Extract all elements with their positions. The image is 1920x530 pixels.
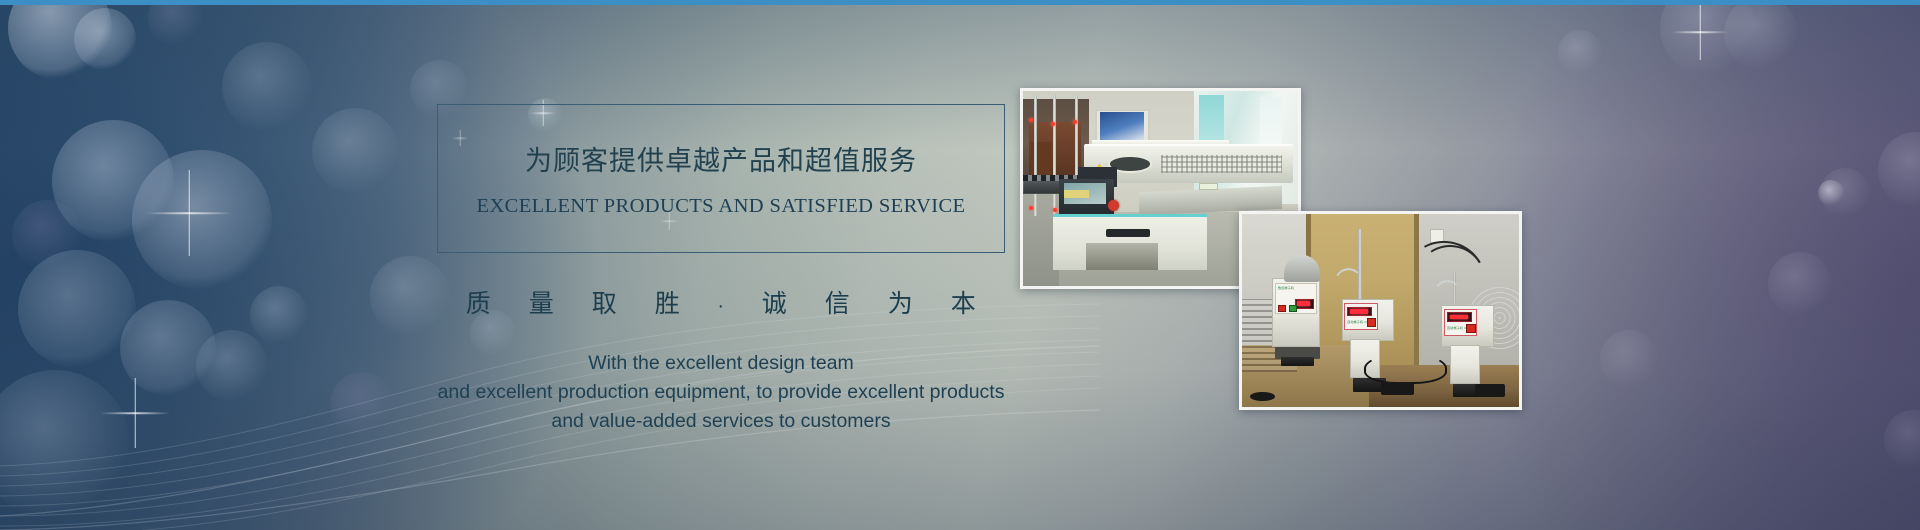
banner-text-column: 为顾客提供卓越产品和超值服务 EXCELLENT PRODUCTS AND SA… bbox=[437, 104, 1005, 436]
slogan-char-5: 诚 bbox=[743, 284, 806, 320]
slogan-char-8: 本 bbox=[932, 284, 995, 320]
slogan-line: 质量取胜·诚信为本 bbox=[437, 284, 1005, 320]
slogan-separator: · bbox=[699, 295, 743, 318]
headline-chinese: 为顾客提供卓越产品和超值服务 bbox=[525, 145, 917, 177]
description-paragraph: With the excellent design team and excel… bbox=[371, 349, 1071, 436]
headline-english: EXCELLENT PRODUCTS AND SATISFIED SERVICE bbox=[477, 195, 966, 218]
slogan-char-7: 为 bbox=[869, 284, 932, 320]
description-line-2: and excellent production equipment, to p… bbox=[371, 378, 1071, 407]
slogan-char-2: 量 bbox=[510, 284, 573, 320]
top-accent-bar bbox=[0, 0, 1920, 5]
headline-box: 为顾客提供卓越产品和超值服务 EXCELLENT PRODUCTS AND SA… bbox=[437, 104, 1005, 253]
slogan-char-6: 信 bbox=[806, 284, 869, 320]
description-line-1: With the excellent design team bbox=[371, 349, 1071, 378]
promo-banner: 为顾客提供卓越产品和超值服务 EXCELLENT PRODUCTS AND SA… bbox=[0, 0, 1920, 530]
slogan-char-1: 质 bbox=[447, 284, 510, 320]
description-line-3: and value-added services to customers bbox=[371, 407, 1071, 436]
slogan-char-4: 胜 bbox=[636, 284, 699, 320]
photo-crimping-machines: 数控端子机 自动端子机 CE 自动端子机 CE bbox=[1239, 211, 1522, 410]
slogan-char-3: 取 bbox=[573, 284, 636, 320]
